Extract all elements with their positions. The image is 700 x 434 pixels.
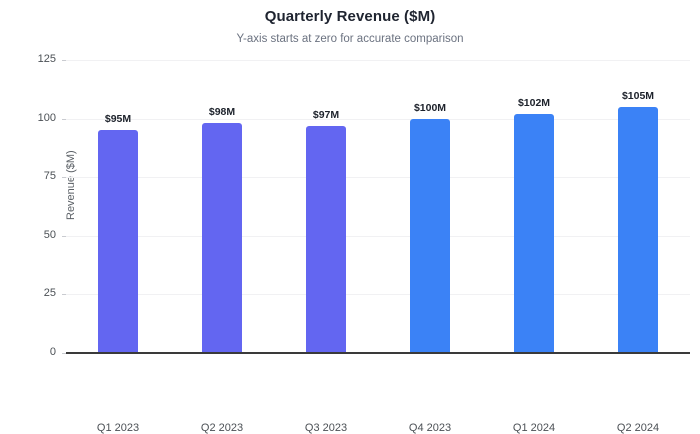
bar[interactable]: [410, 119, 450, 353]
gridline: [66, 119, 690, 120]
x-tick-label: Q1 2024: [479, 422, 589, 434]
y-tick-label: 25: [12, 287, 56, 299]
bar[interactable]: [618, 107, 658, 353]
x-tick-label: Q4 2023: [375, 422, 485, 434]
y-tick-label: 75: [12, 170, 56, 182]
gridline: [66, 236, 690, 237]
gridline: [66, 60, 690, 61]
y-tick-label: 0: [12, 346, 56, 358]
y-tick-label: 50: [12, 229, 56, 241]
bar[interactable]: [202, 123, 242, 353]
x-tick-label: Q2 2023: [167, 422, 277, 434]
bar-value-label: $98M: [182, 106, 262, 118]
y-tick-mark: [62, 119, 66, 120]
bar-value-label: $105M: [598, 90, 678, 102]
y-tick-mark: [62, 177, 66, 178]
y-axis-title: Revenue ($M): [65, 150, 77, 220]
gridline: [66, 294, 690, 295]
x-axis-line: [66, 352, 690, 354]
y-tick-label: 125: [12, 53, 56, 65]
x-tick-label: Q3 2023: [271, 422, 381, 434]
x-tick-label: Q1 2023: [63, 422, 173, 434]
y-tick-label: 100: [12, 112, 56, 124]
bar-value-label: $102M: [494, 97, 574, 109]
bar[interactable]: [306, 126, 346, 353]
y-tick-mark: [62, 60, 66, 61]
bar-value-label: $100M: [390, 102, 470, 114]
bar-value-label: $95M: [78, 113, 158, 125]
x-tick-label: Q2 2024: [583, 422, 693, 434]
y-tick-mark: [62, 294, 66, 295]
gridline: [66, 177, 690, 178]
chart-title: Quarterly Revenue ($M): [0, 8, 700, 25]
y-tick-mark: [62, 236, 66, 237]
bar-chart: Quarterly Revenue ($M) Y-axis starts at …: [0, 0, 700, 400]
bar[interactable]: [514, 114, 554, 353]
bar-value-label: $97M: [286, 109, 366, 121]
chart-subtitle: Y-axis starts at zero for accurate compa…: [0, 33, 700, 45]
bar[interactable]: [98, 130, 138, 353]
plot-area: Revenue ($M) 0255075100125$95MQ1 2023$98…: [66, 60, 690, 353]
